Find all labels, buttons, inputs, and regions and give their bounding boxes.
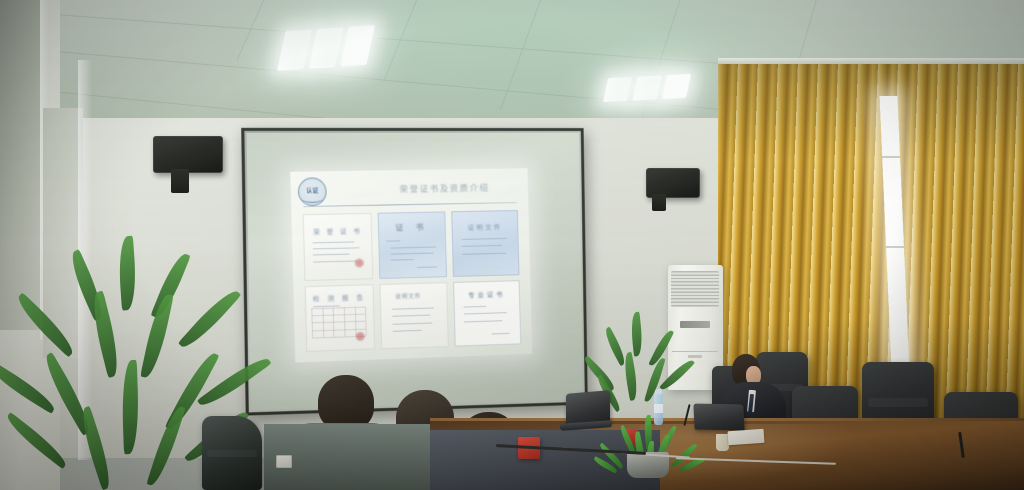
conference-room-photo: 认证 荣誉证书及资质介绍 荣 誉 证 书 证 书 — [0, 0, 1024, 490]
speaker-box — [153, 136, 223, 173]
chair-left-foreground — [202, 416, 262, 490]
ceiling-light-left — [277, 25, 375, 71]
speaker-bracket — [171, 169, 189, 193]
doorway-opening — [0, 0, 42, 330]
light-tube — [308, 27, 343, 69]
wall-speaker-left — [153, 136, 223, 173]
laptop-closed[interactable] — [693, 404, 744, 431]
ac-handle — [688, 355, 702, 358]
ac-brand-plate — [680, 321, 710, 328]
light-tube — [603, 77, 632, 102]
projection-screen: 认证 荣誉证书及资质介绍 荣 誉 证 书 证 书 — [241, 128, 588, 416]
chair-seam — [207, 450, 257, 457]
bottle-cap — [655, 389, 662, 394]
speaker-bracket — [652, 194, 666, 211]
wall-outlet — [276, 455, 292, 468]
papers — [728, 429, 765, 445]
bottle-label — [654, 404, 663, 413]
potted-palm-center — [604, 312, 684, 422]
wall-speaker-right — [646, 168, 700, 198]
ac-grille — [671, 271, 719, 307]
curtain-rod — [718, 58, 1024, 64]
light-tube — [632, 75, 661, 100]
ceiling-light-right — [603, 74, 691, 102]
chair-seam — [868, 398, 928, 407]
